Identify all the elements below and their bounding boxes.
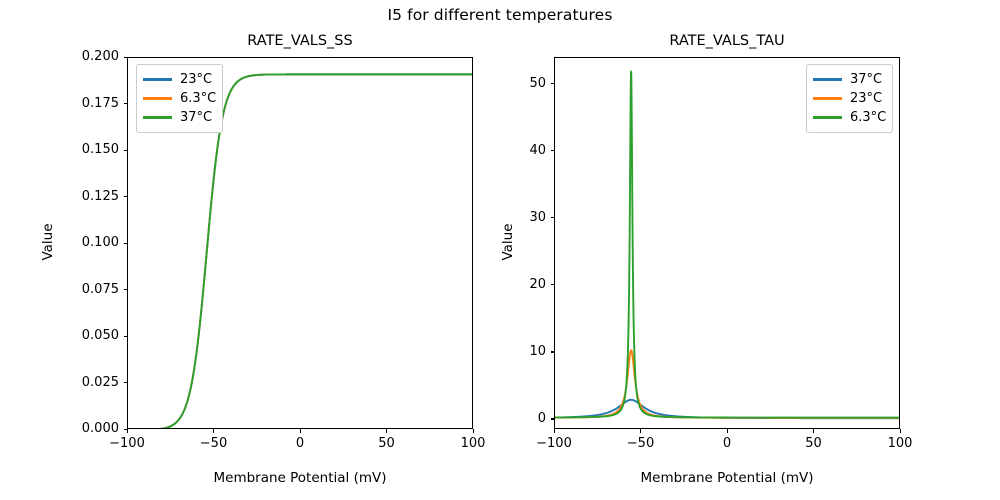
- left-panel-title: RATE_VALS_SS: [127, 33, 473, 49]
- x-tick-mark: [300, 429, 301, 433]
- legend-color-swatch: [143, 97, 172, 99]
- x-tick-label: 50: [347, 437, 427, 450]
- x-tick-label: 0: [260, 437, 340, 450]
- y-tick-label: 30: [520, 211, 546, 224]
- right-legend[interactable]: 37°C23°C6.3°C: [806, 64, 893, 133]
- x-tick-mark: [127, 429, 128, 433]
- y-tick-label: 0.075: [73, 283, 119, 296]
- y-tick-mark: [124, 196, 128, 197]
- legend-item[interactable]: 23°C: [143, 70, 216, 89]
- figure-suptitle: I5 for different temperatures: [0, 6, 1000, 24]
- x-tick-mark: [473, 429, 474, 433]
- x-tick-mark: [813, 429, 814, 433]
- y-tick-label: 0.050: [73, 329, 119, 342]
- x-tick-label: 50: [774, 437, 854, 450]
- right-panel-title: RATE_VALS_TAU: [554, 33, 900, 49]
- legend-color-swatch: [813, 78, 842, 80]
- y-tick-label: 20: [520, 278, 546, 291]
- x-tick-label: −50: [174, 437, 254, 450]
- legend-item[interactable]: 6.3°C: [813, 108, 886, 127]
- y-tick-label: 0.175: [73, 97, 119, 110]
- y-tick-mark: [551, 351, 555, 352]
- y-tick-mark: [124, 289, 128, 290]
- y-tick-label: 0.100: [73, 236, 119, 249]
- legend-item-label: 23°C: [850, 91, 882, 106]
- legend-color-swatch: [143, 78, 172, 80]
- x-tick-mark: [554, 429, 555, 433]
- legend-item[interactable]: 6.3°C: [143, 89, 216, 108]
- y-tick-label: 0.025: [73, 376, 119, 389]
- legend-item-label: 6.3°C: [850, 110, 886, 125]
- x-tick-mark: [386, 429, 387, 433]
- x-tick-label: −100: [514, 437, 594, 450]
- right-x-axis-label: Membrane Potential (mV): [554, 470, 900, 486]
- x-tick-label: 100: [433, 437, 513, 450]
- y-tick-label: 40: [520, 144, 546, 157]
- y-tick-mark: [124, 336, 128, 337]
- y-tick-mark: [551, 83, 555, 84]
- y-tick-mark: [124, 243, 128, 244]
- y-tick-label: 0.150: [73, 143, 119, 156]
- legend-item-label: 23°C: [180, 72, 212, 87]
- legend-item[interactable]: 37°C: [813, 70, 886, 89]
- legend-item-label: 6.3°C: [180, 91, 216, 106]
- y-tick-mark: [551, 418, 555, 419]
- legend-color-swatch: [813, 116, 842, 118]
- right-y-axis-label: Value: [500, 202, 516, 282]
- legend-item-label: 37°C: [180, 110, 212, 125]
- y-tick-label: 50: [520, 77, 546, 90]
- x-tick-mark: [213, 429, 214, 433]
- matplotlib-figure: I5 for different temperatures RATE_VALS_…: [0, 0, 1000, 500]
- legend-color-swatch: [813, 97, 842, 99]
- x-tick-label: −50: [601, 437, 681, 450]
- y-tick-mark: [551, 284, 555, 285]
- legend-item[interactable]: 23°C: [813, 89, 886, 108]
- x-tick-label: 0: [687, 437, 767, 450]
- y-tick-mark: [124, 57, 128, 58]
- y-tick-label: 0.000: [73, 422, 119, 435]
- y-tick-mark: [124, 150, 128, 151]
- y-tick-mark: [551, 150, 555, 151]
- x-tick-mark: [900, 429, 901, 433]
- y-tick-label: 10: [520, 345, 546, 358]
- y-tick-label: 0.200: [73, 50, 119, 63]
- legend-color-swatch: [143, 116, 172, 118]
- y-tick-mark: [124, 382, 128, 383]
- series-line: [555, 350, 900, 418]
- legend-item[interactable]: 37°C: [143, 108, 216, 127]
- legend-item-label: 37°C: [850, 72, 882, 87]
- x-tick-label: 100: [860, 437, 940, 450]
- x-tick-label: −100: [87, 437, 167, 450]
- left-y-axis-label: Value: [40, 202, 56, 282]
- y-tick-label: 0: [520, 412, 546, 425]
- left-x-axis-label: Membrane Potential (mV): [127, 470, 473, 486]
- y-tick-mark: [124, 103, 128, 104]
- x-tick-mark: [727, 429, 728, 433]
- x-tick-mark: [640, 429, 641, 433]
- left-legend[interactable]: 23°C6.3°C37°C: [136, 64, 223, 133]
- y-tick-mark: [551, 217, 555, 218]
- y-tick-label: 0.125: [73, 190, 119, 203]
